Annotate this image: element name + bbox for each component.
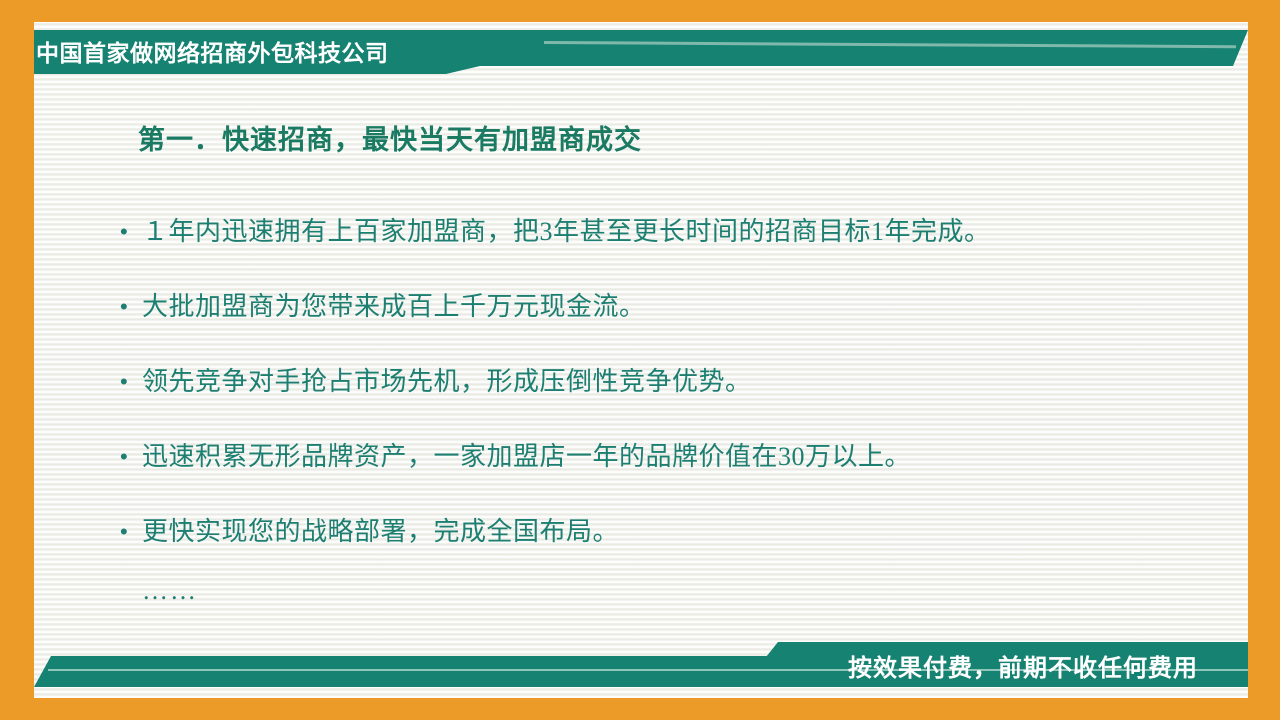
list-item-text: 更快实现您的战略部署，完成全国布局。 <box>142 515 619 549</box>
bullet-icon: • <box>120 215 142 249</box>
bullet-icon: • <box>120 515 142 549</box>
list-item: • 更快实现您的战略部署，完成全国布局。 <box>120 515 1220 549</box>
bullet-icon: • <box>120 290 142 324</box>
header-title: 中国首家做网络招商外包科技公司 <box>36 31 389 71</box>
list-item: • 大批加盟商为您带来成百上千万元现金流。 <box>120 290 1220 324</box>
slide-canvas: 中国首家做网络招商外包科技公司 第一．快速招商，最快当天有加盟商成交 • １年内… <box>0 0 1280 720</box>
footer-tagline: 按效果付费，前期不收任何费用 <box>848 643 1198 687</box>
list-item: • 迅速积累无形品牌资产，一家加盟店一年的品牌价值在30万以上。 <box>120 440 1220 474</box>
list-item-text: 领先竞争对手抢占市场先机，形成压倒性竞争优势。 <box>142 365 752 399</box>
list-item: • １年内迅速拥有上百家加盟商，把3年甚至更长时间的招商目标1年完成。 <box>120 215 1220 249</box>
list-item-text: 迅速积累无形品牌资产，一家加盟店一年的品牌价值在30万以上。 <box>142 440 911 474</box>
page-title: 第一．快速招商，最快当天有加盟商成交 <box>138 118 1220 157</box>
ellipsis-text: …… <box>142 576 1220 606</box>
list-item-text: １年内迅速拥有上百家加盟商，把3年甚至更长时间的招商目标1年完成。 <box>142 215 991 249</box>
bullet-icon: • <box>120 365 142 399</box>
slide-content: 第一．快速招商，最快当天有加盟商成交 • １年内迅速拥有上百家加盟商，把3年甚至… <box>120 118 1220 606</box>
bullet-icon: • <box>120 440 142 474</box>
list-item-text: 大批加盟商为您带来成百上千万元现金流。 <box>142 290 646 324</box>
list-item: • 领先竞争对手抢占市场先机，形成压倒性竞争优势。 <box>120 365 1220 399</box>
